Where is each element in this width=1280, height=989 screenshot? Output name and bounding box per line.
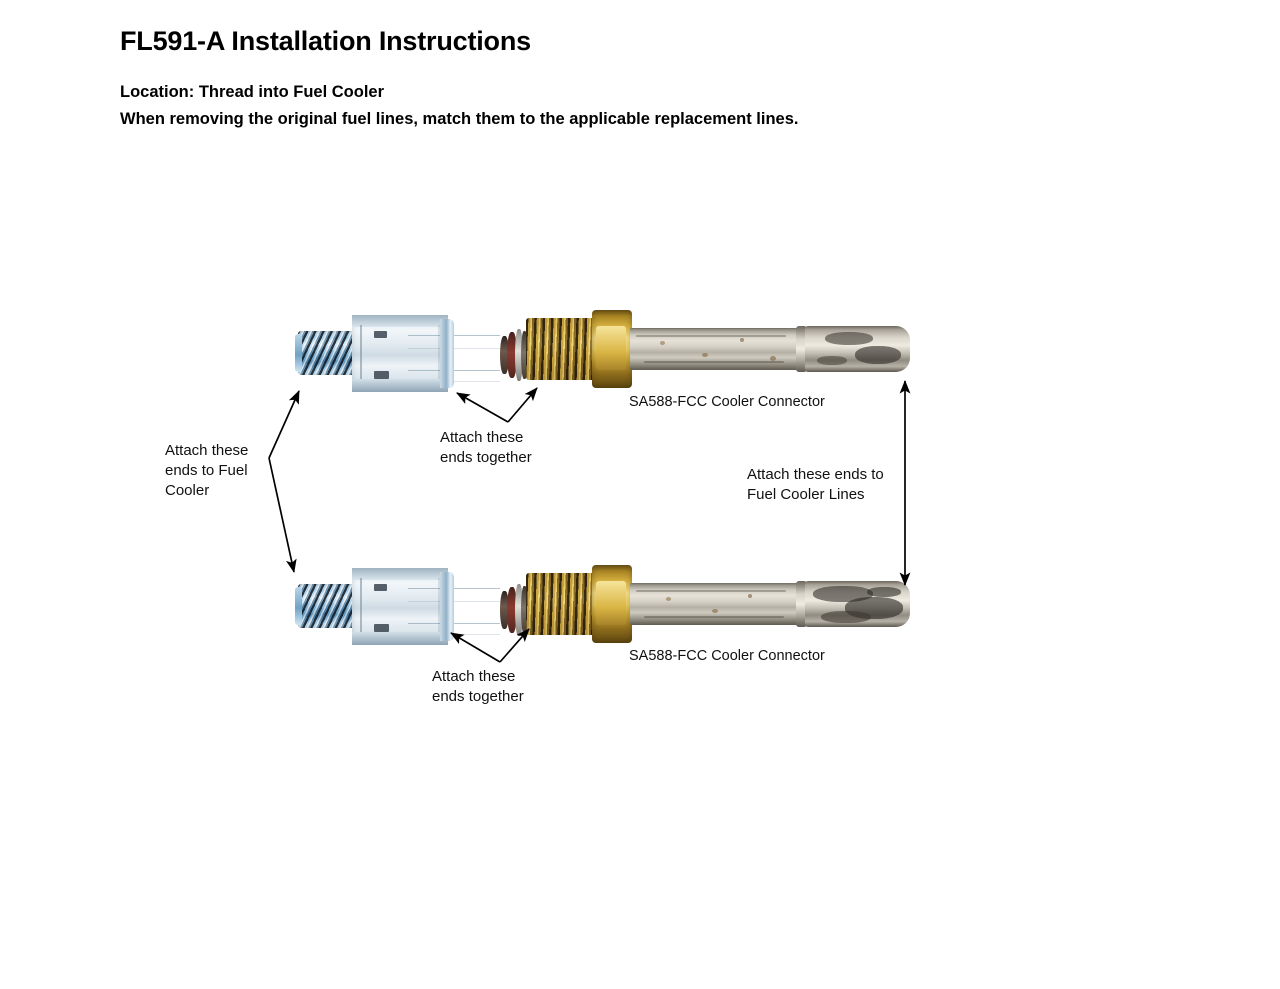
instruction-sheet: FL591-A Installation Instructions Locati… <box>0 0 1280 989</box>
note-attach-to-fuel-cooler: Attach these ends to Fuel Cooler <box>165 441 248 501</box>
note-attach-together-top: Attach these ends together <box>440 428 532 468</box>
note-attach-together-bottom: Attach these ends together <box>432 667 524 707</box>
arrow-attach-to-fuel-cooler <box>269 391 299 572</box>
note-attach-to-cooler-lines: Attach these ends to Fuel Cooler Lines <box>747 465 884 505</box>
arrow-attach-together-top <box>457 388 537 422</box>
arrow-attach-together-bottom <box>451 629 529 662</box>
